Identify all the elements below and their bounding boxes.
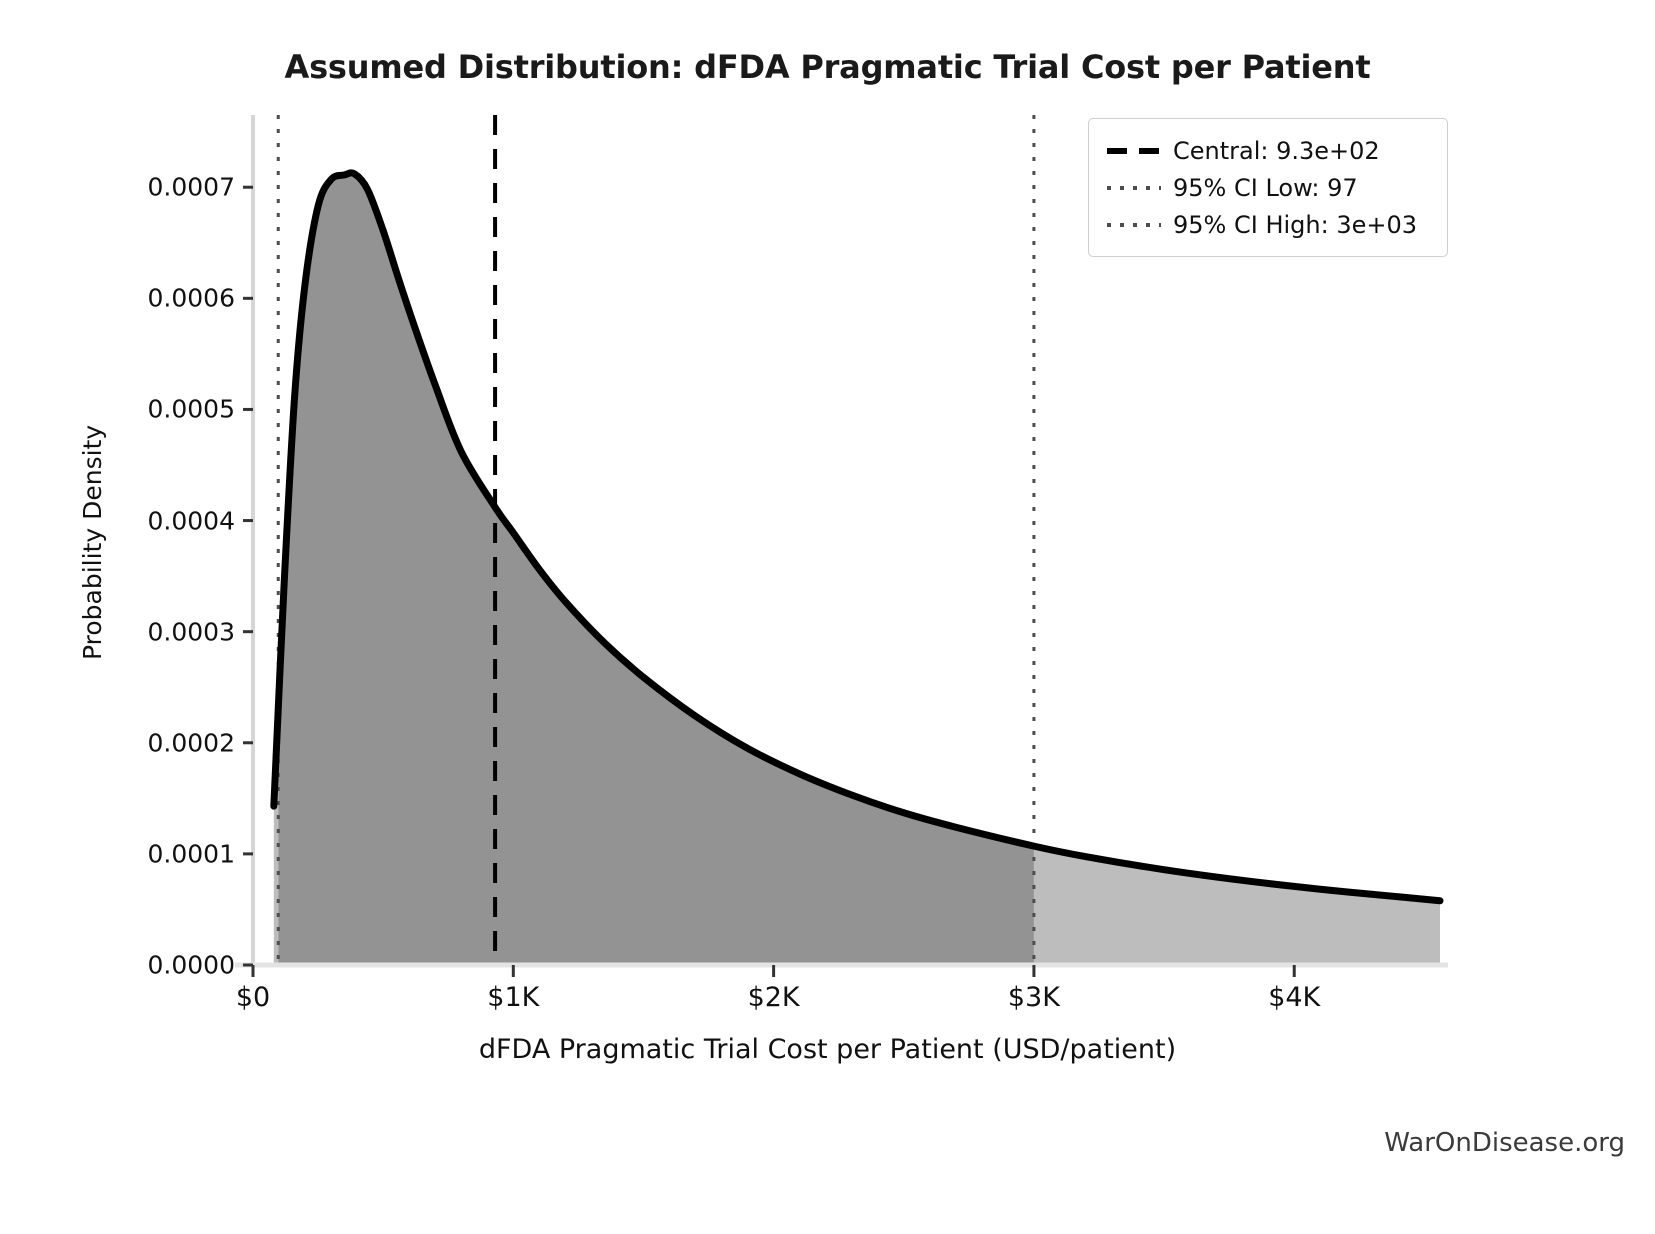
y-axis-tick-label: 0.0007 [95, 173, 235, 202]
x-axis-tick-label: $4K [1214, 982, 1374, 1013]
legend-line-swatch-icon [1103, 169, 1165, 206]
fill-above-ci-high [1034, 846, 1440, 965]
chart-legend[interactable]: Central: 9.3e+0295% CI Low: 9795% CI Hig… [1088, 118, 1448, 257]
fill-inside-ci [278, 173, 1034, 965]
y-axis-tick-label: 0.0001 [95, 839, 235, 868]
y-axis-tick-label: 0.0006 [95, 284, 235, 313]
x-axis-tick-label: $0 [173, 982, 333, 1013]
y-axis-title: Probability Density [78, 425, 107, 660]
legend-item[interactable]: 95% CI High: 3e+03 [1103, 206, 1431, 243]
x-axis-tick-label: $3K [954, 982, 1114, 1013]
legend-item[interactable]: Central: 9.3e+02 [1103, 132, 1431, 169]
x-axis-tick-label: $1K [433, 982, 593, 1013]
legend-line-swatch-icon [1103, 206, 1165, 243]
legend-item-label: 95% CI High: 3e+03 [1165, 211, 1417, 239]
y-axis-tick-label: 0.0003 [95, 617, 235, 646]
x-axis-tick-label: $2K [694, 982, 854, 1013]
legend-line-swatch-icon [1103, 132, 1165, 169]
legend-item-label: 95% CI Low: 97 [1165, 174, 1358, 202]
legend-item[interactable]: 95% CI Low: 97 [1103, 169, 1431, 206]
chart-figure: Assumed Distribution: dFDA Pragmatic Tri… [0, 0, 1655, 1234]
watermark: WarOnDisease.org [1384, 1128, 1625, 1158]
legend-item-label: Central: 9.3e+02 [1165, 137, 1380, 165]
x-axis-title: dFDA Pragmatic Trial Cost per Patient (U… [0, 1034, 1655, 1065]
y-axis-tick-label: 0.0004 [95, 506, 235, 535]
y-axis-tick-label: 0.0005 [95, 395, 235, 424]
y-axis-tick-label: 0.0002 [95, 728, 235, 757]
y-axis-tick-label: 0.0000 [95, 951, 235, 980]
